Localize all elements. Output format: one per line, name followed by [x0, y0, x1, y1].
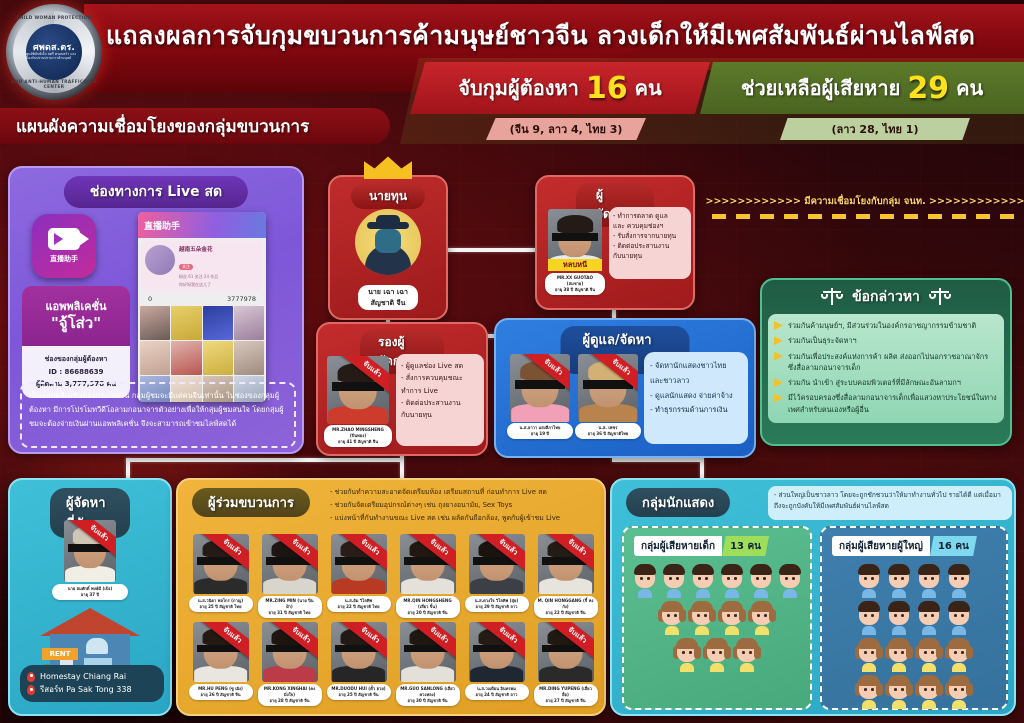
map-pin-icon	[27, 685, 35, 695]
recruiter-duty: - ทำธุรกรรมด้านการเงิน	[650, 403, 742, 418]
page-title: แถลงผลการจับกุมขบวนการค้ามนุษย์ชาวจีน ลว…	[106, 16, 1012, 56]
accomplice-cell: จับแล้วน.ส.อัม วิไลทิพอายุ 22 ปี สัญชาติ…	[326, 534, 391, 618]
accomplice-caption: น.ส.อัม วิไลทิพอายุ 22 ปี สัญชาติ ไทย	[327, 596, 391, 612]
girl-avatar-icon	[856, 675, 882, 709]
girl-avatar-icon	[886, 675, 912, 709]
logo-core: ศพดส.ตร. ศูนย์พิทักษ์เด็ก สตรี ครอบครัว …	[26, 24, 82, 80]
accomplice-caption-line1: MR.DUODU HUI (ตั้ว ฮวย)	[331, 686, 387, 692]
girl-avatar-icon	[674, 638, 700, 672]
stat-rescued-value: 29	[907, 71, 949, 106]
accomplice-photo: จับแล้ว	[193, 622, 249, 682]
accomplice-caption-line1: MR.ZING MIN (นาย ปิ่น ฝ้า)	[262, 598, 318, 610]
child-victims-count: 13 คน	[722, 536, 769, 556]
charge-item: ร่วมกันค้ามนุษย์ฯ, มีส่วนร่วมในองค์กรอาช…	[774, 320, 998, 331]
accomplice-photo: จับแล้ว	[262, 534, 318, 594]
phone-thumb	[140, 341, 170, 375]
accomplice-caption-line1: MR.KONG XINGHAI (คง มิ่งใจ)	[262, 686, 318, 698]
boy-avatar-icon	[946, 564, 972, 598]
deputy-duty: - ผู้ดูแลช่อง Live สด	[401, 360, 479, 372]
accomplice-photo-body	[194, 578, 248, 594]
accomplice-caption: MR.ZING MIN (นาย ปิ่น ฝ้า)อายุ 31 ปี สัญ…	[258, 596, 322, 618]
phone-thumb	[140, 306, 170, 340]
accomplice-photo-body	[470, 666, 524, 682]
arrow-icon	[774, 352, 783, 361]
boy-avatar-icon	[856, 564, 882, 598]
accomplice-caption: MR.DING YUPENG (เสี่ยว ยื่อ)อายุ 27 ปี ส…	[534, 684, 598, 706]
manager-caption: MR.XX GUOTAO (สมชาย) อายุ 38 ปี สัญชาติ …	[545, 273, 605, 295]
rent-sign: RENT	[42, 648, 78, 660]
phone-left-number: 0	[148, 295, 152, 303]
phone-avatar	[145, 245, 175, 275]
logo-sub: ศูนย์พิทักษ์เด็ก สตรี ครอบครัว และป้องกั…	[26, 53, 82, 60]
stat-arrested: จับกุมผู้ต้องหา 16 คน	[410, 62, 710, 114]
accomplice-cell: จับแล้วน.ส.วนิดา พลไกร (กาญ)อายุ 25 ปี ส…	[188, 534, 253, 618]
address-text: Homestay Chiang Rai	[40, 670, 126, 684]
charge-text: ร่วมกันเป็นธุระจัดหาฯ	[788, 335, 857, 346]
recruiter-caption-line2: อายุ 36 ปี สัญชาติไทย	[579, 431, 637, 437]
accomplice-caption: น.ส.วงเดือน อินทรคมอายุ 24 ปี สัญชาติ ลา…	[465, 684, 529, 700]
phone-profile-card: 越南五朵金花 关注 粉丝 61 关注 24 作品 你好呀我在这儿了	[141, 241, 263, 291]
phone-thumb	[234, 306, 264, 340]
recruiter-caption: น.ส. เพชร อายุ 36 ปี สัญชาติไทย	[575, 423, 641, 439]
charge-text: ร่วมกันเพื่อประสงค์แห่งการค้า ผลิต ส่งออ…	[788, 351, 998, 374]
manager-status-badge: หลบหนี	[548, 259, 602, 271]
manager-photo-hair	[557, 215, 593, 232]
stats-group: จับกุมผู้ต้องหา 16 คน ช่วยเหลือผู้เสียหา…	[400, 62, 1024, 146]
phone-counters: 0 3777978	[138, 294, 266, 304]
child-victims-row	[632, 601, 802, 635]
accomplice-caption: MR.KONG XINGHAI (คง มิ่งใจ)อายุ 28 ปี สั…	[258, 684, 322, 706]
phone-card-title: 越南五朵金花	[179, 245, 259, 253]
victims-card: กลุ่มนักแสดง - ส่วนใหญ่เป็นชาวลาว โดยจะถ…	[610, 478, 1016, 716]
arrow-icon	[774, 321, 783, 330]
accomplice-cell: จับแล้วMR.ZING MIN (นาย ปิ่น ฝ้า)อายุ 31…	[257, 534, 322, 618]
boy-avatar-icon	[690, 564, 715, 598]
charge-text: ร่วมกันค้ามนุษย์ฯ, มีส่วนร่วมในองค์กรอาช…	[788, 320, 976, 331]
accomplice-cell: จับแล้วน.ส.วงเดือน อินทรคมอายุ 24 ปี สัญ…	[464, 622, 529, 706]
girl-avatar-icon	[856, 638, 882, 672]
accomplice-caption-line2: อายุ 22 ปี สัญชาติ ไทย	[331, 604, 387, 610]
deputy-duty: - ติดต่อประสานงาน	[401, 397, 479, 409]
accomplice-photo-body	[401, 578, 455, 594]
charges-title: ข้อกล่าวหา	[852, 286, 920, 308]
manager-card: ผู้จัดการ หลบหนี MR.XX GUOTAO (สมชาย) อา…	[535, 175, 695, 310]
app-label-line1: แอพพลิเคชั่น	[45, 300, 106, 314]
phone-follow-badge: 关注	[179, 264, 193, 270]
accomplice-caption-line2: อายุ 24 ปี สัญชาติ ลาว	[469, 692, 525, 698]
stat-arrested-note: (จีน 9, ลาว 4, ไทย 3)	[486, 118, 646, 140]
victims-note: - ส่วนใหญ่เป็นชาวลาว โดยจะถูกชักชวนว่าให…	[768, 486, 1012, 520]
recruiter-duty: - ดูแลนักแสดง จ่ายค่าจ้าง	[650, 389, 742, 404]
app-name-box: แอพพลิเคชั่น "จู้โส่ว"	[22, 286, 130, 346]
child-victims-group: กลุ่มผู้เสียหายเด็ก 13 คน	[622, 526, 812, 710]
boss-avatar-hat-top	[376, 215, 400, 225]
live-app-icon: 直播助手	[32, 214, 96, 278]
phone-app-header: 直播助手	[138, 212, 266, 238]
deputy-caption-line2: อายุ 41 ปี สัญชาติ จีน	[328, 439, 388, 445]
accomplice-caption-line2: อายุ 30 ปี สัญชาติ จีน	[400, 698, 456, 704]
accomplice-photo-body	[263, 666, 317, 682]
stat-arrested-unit: คน	[635, 72, 662, 104]
accomplice-photo: จับแล้ว	[400, 622, 456, 682]
accomplice-caption-line2: อายุ 28 ปี สัญชาติ จีน	[262, 698, 318, 704]
adult-victims-row	[830, 601, 998, 635]
accomplice-photo: จับแล้ว	[538, 534, 594, 594]
logo-text-bottom: AND ANTI-HUMAN TRAFFICKING CENTER	[6, 79, 102, 89]
phone-thumb	[203, 341, 233, 375]
connector-bottom	[126, 458, 402, 462]
channel-label: ช่องของกลุ่มผู้ต้องหา	[45, 353, 108, 366]
app-label-line2: "จู้โส่ว"	[51, 314, 101, 333]
deputy-duties: - ผู้ดูแลช่อง Live สด - สั่งการควบคุมชณะ…	[396, 354, 484, 446]
child-victims-row	[632, 564, 802, 598]
recruiter-caption: น.ส.ยาวา แสงสีภาไทย อายุ 19 ปี	[507, 423, 573, 439]
boy-avatar-icon	[886, 601, 912, 635]
live-panel-note: เป็นแอพพลิเคชั่นของประเทศจีน กลุ่มผู้ชมจ…	[20, 382, 296, 448]
charges-header: ข้อกล่าวหา	[762, 280, 1010, 314]
recruiter-card: ผู้ดูแล/จัดหานักแสดง จับแล้ว น.ส.ยาวา แส…	[494, 318, 756, 458]
deputy-manager-card: รองผู้จัดการ จับแล้ว MR.ZHAO MINGSHENG (…	[316, 322, 488, 456]
girl-avatar-icon	[659, 601, 685, 635]
phone-card-line2: 你好呀我在这儿了	[179, 282, 259, 288]
accomplice-cell: จับแล้วMR.DUODU HUI (ตั้ว ฮวย)อายุ 25 ปี…	[326, 622, 391, 706]
girl-avatar-icon	[719, 601, 745, 635]
deputy-duty: กับนายทุน	[401, 409, 479, 421]
girl-avatar-icon	[946, 638, 972, 672]
charge-item: ร่วมกันเป็นธุระจัดหาฯ	[774, 335, 998, 346]
live-panel-title: ช่องทางการ Live สด	[64, 176, 248, 208]
adult-victims-group: กลุ่มผู้เสียหายผู้ใหญ่ 16 คน	[820, 526, 1008, 710]
boss-title: นายทุน	[351, 184, 425, 209]
scales-of-justice-icon	[930, 288, 950, 306]
accomplice-photo-body	[332, 666, 386, 682]
accomplice-photo-body	[470, 578, 524, 594]
stat-rescued-label: ช่วยเหลือผู้เสียหาย	[741, 72, 900, 104]
recruiter-photo: จับแล้ว	[578, 354, 638, 422]
accomplice-caption-line2: อายุ 25 ปี สัญชาติ จีน	[331, 692, 387, 698]
page-subtitle: แผนผังความเชื่อมโยงของกลุ่มขบวนการ	[0, 108, 390, 144]
arrow-icon	[774, 378, 783, 387]
boss-caption: นาย เฉา เฉา สัญชาติ จีน	[358, 285, 418, 310]
accomplice-photo: จับแล้ว	[538, 622, 594, 682]
charge-text: มีไว้ครอบครองซึ่งสื่อลามกอนาจารเด็กเพื่อ…	[788, 392, 998, 415]
accomplice-caption-line2: อายุ 22 ปี สัญชาติ จีน	[538, 610, 594, 616]
stat-rescued: ช่วยเหลือผู้เสียหาย 29 คน	[700, 62, 1024, 114]
boss-nationality: สัญชาติ จีน	[368, 298, 408, 309]
accomplice-caption-line2: อายุ 26 ปี สัญชาติ จีน	[193, 692, 249, 698]
accomplice-caption: น.ส.ดวงใจ วิไลทิพ (สุ่ย)อายุ 29 ปี สัญชา…	[465, 596, 529, 612]
victims-title: กลุ่มนักแสดง	[626, 488, 730, 517]
girl-avatar-icon	[704, 638, 730, 672]
housing-caption-line2: อายุ 37 ปี	[56, 592, 124, 598]
girl-avatar-icon	[689, 601, 715, 635]
accomplice-caption-line1: MR.QIN HONGSHENG (เสี่ยว จิ้น)	[400, 598, 456, 610]
accomplice-caption: MR.GUO SANLONG (เสี่ยว ควงหลง)อายุ 30 ปี…	[396, 684, 460, 706]
phone-card-line1: 粉丝 61 关注 24 作品	[179, 274, 259, 280]
live-channel-panel: ช่องทางการ Live สด 直播助手 แอพพลิเคชั่น "จู…	[8, 166, 304, 454]
dashed-divider	[712, 214, 1018, 219]
address-text: รีสอร์ท Pa Sak Tong 338	[40, 683, 132, 697]
accomplice-caption-line2: อายุ 31 ปี สัญชาติ ไทย	[262, 610, 318, 616]
accomplice-caption: M. QIN HONGGANG (จี้ หงกัง)อายุ 22 ปี สั…	[534, 596, 598, 618]
recruiter-caption-line2: อายุ 19 ปี	[511, 431, 569, 437]
adult-victims-row	[830, 675, 998, 709]
map-pin-icon	[27, 672, 35, 682]
child-victims-icons	[632, 564, 802, 672]
charge-item: ร่วมกัน นำเข้า สู่ระบบคอมพิวเตอร์ที่มีลั…	[774, 377, 998, 388]
accomplice-photo: จับแล้ว	[469, 622, 525, 682]
recruiter-photo: จับแล้ว	[510, 354, 570, 422]
arrow-icon	[774, 393, 783, 402]
manager-duty: - รับสั่งการจากนายทุน	[613, 232, 687, 242]
housing-caption: นาย สมศักดิ์ พงษ์มี (เป้ง) อายุ 37 ปี	[52, 584, 128, 600]
deputy-caption: MR.ZHAO MINGSHENG (ปิ่นทอง) อายุ 41 ปี ส…	[324, 425, 392, 447]
accomplice-cell: จับแล้วM. QIN HONGGANG (จี้ หงกัง)อายุ 2…	[533, 534, 598, 618]
deputy-duty: ทำการ Live	[401, 385, 479, 397]
boss-name: นาย เฉา เฉา	[368, 287, 408, 298]
infographic-root: แถลงผลการจับกุมขบวนการค้ามนุษย์ชาวจีน ลว…	[0, 0, 1024, 723]
address-row: Homestay Chiang Rai	[27, 670, 157, 684]
recruiter-duties: - จัดหานักแสดงชาวไทย และชาวลาว - ดูแลนัก…	[644, 352, 748, 444]
accomplice-caption-line2: อายุ 20 ปี สัญชาติ จีน	[400, 610, 456, 616]
boss-avatar-icon	[355, 209, 421, 275]
charge-text: ร่วมกัน นำเข้า สู่ระบบคอมพิวเตอร์ที่มีลั…	[788, 377, 961, 388]
accomplice-caption: MR.DUODU HUI (ตั้ว ฮวย)อายุ 25 ปี สัญชาต…	[327, 684, 391, 700]
deputy-photo-redaction-bar	[332, 382, 384, 391]
phone-thumb	[234, 341, 264, 375]
logo-text-top: CHILD WOMAN PROTECTION	[6, 15, 102, 20]
girl-avatar-icon	[749, 601, 775, 635]
adult-victims-icons	[830, 564, 998, 709]
boy-avatar-icon	[632, 564, 657, 598]
accomplice-caption: MR.HU PENG (ซู เผิง)อายุ 26 ปี สัญชาติ จ…	[189, 684, 253, 700]
manager-duty: กับนายทุน	[613, 252, 687, 262]
accomplice-photo-body	[539, 578, 593, 594]
housing-addresses: Homestay Chiang Rai รีสอร์ท Pa Sak Tong …	[20, 665, 164, 702]
accomplice-caption-line1: MR.GUO SANLONG (เสี่ยว ควงหลง)	[400, 686, 456, 698]
manager-caption-line2: อายุ 38 ปี สัญชาติ จีน	[549, 287, 601, 293]
child-victims-header: กลุ่มผู้เสียหายเด็ก 13 คน	[634, 536, 769, 556]
adult-victims-row	[830, 638, 998, 672]
stat-arrested-label: จับกุมผู้ต้องหา	[458, 72, 579, 104]
boy-avatar-icon	[946, 601, 972, 635]
housing-photo: จับแล้ว	[64, 520, 116, 582]
accomplices-title: ผู้ร่วมขบวนการ	[192, 488, 310, 517]
accomplices-duties: - ช่วยกันทำความสะอาดจัดเตรียมห้อง เตรียม…	[330, 486, 600, 525]
accomplice-photo-body	[263, 578, 317, 594]
phone-screenshot: 直播助手 越南五朵金花 关注 粉丝 61 关注 24 作品 你好呀我在这儿了 0…	[138, 212, 266, 402]
boy-avatar-icon	[916, 601, 942, 635]
phone-profile-meta: 越南五朵金花 关注 粉丝 61 关注 24 作品 你好呀我在这儿了	[179, 245, 259, 287]
accomplice-duty: - ช่วยกันจัดเตรียมอุปกรณ์ต่างๆ เช่น ถุงย…	[330, 499, 600, 512]
stat-rescued-unit: คน	[956, 72, 983, 104]
boy-avatar-icon	[856, 601, 882, 635]
accomplice-photo-body	[194, 666, 248, 682]
boss-card: นายทุน นาย เฉา เฉา สัญชาติ จีน	[328, 175, 448, 320]
accomplice-cell: จับแล้วน.ส.ดวงใจ วิไลทิพ (สุ่ย)อายุ 29 ป…	[464, 534, 529, 618]
accomplice-photo-body	[401, 666, 455, 682]
accomplice-caption-line2: อายุ 25 ปี สัญชาติ ไทย	[193, 604, 249, 610]
accomplice-photo: จับแล้ว	[469, 534, 525, 594]
accomplice-photo: จับแล้ว	[400, 534, 456, 594]
child-victims-row	[632, 638, 802, 672]
manager-duty: และ ควบคุมช่องฯ	[613, 222, 687, 232]
charges-list: ร่วมกันค้ามนุษย์ฯ, มีส่วนร่วมในองค์กรอาช…	[768, 314, 1004, 423]
boy-avatar-icon	[661, 564, 686, 598]
accomplice-cell: จับแล้วMR.KONG XINGHAI (คง มิ่งใจ)อายุ 2…	[257, 622, 322, 706]
phone-right-number: 3777978	[227, 295, 256, 303]
phone-thumb	[171, 341, 201, 375]
boy-avatar-icon	[886, 564, 912, 598]
accomplice-duty: - แบ่งหน้าที่กันทำงานขณะ Live สด เช่น ผล…	[330, 512, 600, 525]
manager-caption-line1: MR.XX GUOTAO (สมชาย)	[549, 275, 601, 287]
manager-duty: - ติดต่อประสานงาน	[613, 242, 687, 252]
channel-id: ID : 86688639	[48, 366, 103, 379]
accomplice-duty: - ช่วยกันทำความสะอาดจัดเตรียมห้อง เตรียม…	[330, 486, 600, 499]
girl-avatar-icon	[886, 638, 912, 672]
accomplice-caption-line1: M. QIN HONGGANG (จี้ หงกัง)	[538, 598, 594, 610]
girl-avatar-icon	[916, 638, 942, 672]
charge-item: มีไว้ครอบครองซึ่งสื่อลามกอนาจารเด็กเพื่อ…	[774, 392, 998, 415]
deputy-duty: - สั่งการควบคุมชณะ	[401, 372, 479, 384]
accomplice-photo: จับแล้ว	[331, 622, 387, 682]
manager-duties: - ทำการตลาด ดูแล และ ควบคุมช่องฯ - รับสั…	[609, 207, 691, 279]
accomplice-photo-body	[539, 666, 593, 682]
girl-avatar-icon	[946, 675, 972, 709]
child-victims-label: กลุ่มผู้เสียหายเด็ก	[634, 536, 722, 556]
accomplice-caption-line2: อายุ 29 ปี สัญชาติ ลาว	[469, 604, 525, 610]
manager-duty: - ทำการตลาด ดูแล	[613, 212, 687, 222]
house-roof	[40, 608, 140, 636]
manager-photo-redaction-bar	[552, 233, 597, 241]
live-app-icon-text: 直播助手	[50, 254, 78, 264]
accomplice-photo: จับแล้ว	[331, 534, 387, 594]
accomplice-photo: จับแล้ว	[262, 622, 318, 682]
accomplice-photo: จับแล้ว	[193, 534, 249, 594]
stat-rescued-note: (ลาว 28, ไทย 1)	[780, 118, 970, 140]
boy-avatar-icon	[748, 564, 773, 598]
link-banner: >>>>>>>>>>>> มีความเชื่อมโยงกับกลุ่ม จนท…	[712, 192, 1018, 210]
accomplice-photo-body	[332, 578, 386, 594]
boy-avatar-icon	[719, 564, 744, 598]
accomplice-caption: น.ส.วนิดา พลไกร (กาญ)อายุ 25 ปี สัญชาติ …	[189, 596, 253, 612]
accomplice-caption-line1: MR.DING YUPENG (เสี่ยว ยื่อ)	[538, 686, 594, 698]
boy-avatar-icon	[777, 564, 802, 598]
deputy-caption-line1: MR.ZHAO MINGSHENG (ปิ่นทอง)	[328, 427, 388, 439]
boy-avatar-icon	[916, 564, 942, 598]
phone-thumb	[203, 306, 233, 340]
accomplices-card: ผู้ร่วมขบวนการ - ช่วยกันทำความสะอาดจัดเต…	[176, 478, 606, 716]
recruiter-duty: และชาวลาว	[650, 374, 742, 389]
scales-of-justice-icon	[822, 288, 842, 306]
accomplice-caption-line1: MR.HU PENG (ซู เผิง)	[193, 686, 249, 692]
house-window-upper	[86, 638, 108, 654]
recruiter-duty: - จัดหานักแสดงชาวไทย	[650, 359, 742, 374]
video-camera-icon	[48, 228, 80, 250]
girl-avatar-icon	[916, 675, 942, 709]
accomplice-cell: จับแล้วMR.DING YUPENG (เสี่ยว ยื่อ)อายุ …	[533, 622, 598, 706]
adult-victims-count: 16 คน	[930, 536, 977, 556]
phone-thumb	[171, 306, 201, 340]
housing-provider-card: ผู้จัดหาที่พัก จับแล้ว นาย สมศักดิ์ พงษ์…	[8, 478, 172, 716]
address-row: รีสอร์ท Pa Sak Tong 338	[27, 683, 157, 697]
accomplice-caption-line2: อายุ 27 ปี สัญชาติ จีน	[538, 698, 594, 704]
arrow-icon	[774, 336, 783, 345]
stat-arrested-value: 16	[586, 71, 628, 106]
adult-victims-label: กลุ่มผู้เสียหายผู้ใหญ่	[832, 536, 930, 556]
accomplice-cell: จับแล้วMR.GUO SANLONG (เสี่ยว ควงหลง)อาย…	[395, 622, 460, 706]
police-logo: ศพดส.ตร. ศูนย์พิทักษ์เด็ก สตรี ครอบครัว …	[6, 4, 102, 100]
accomplices-photo-grid: จับแล้วน.ส.วนิดา พลไกร (กาญ)อายุ 25 ปี ส…	[188, 534, 598, 706]
accomplice-cell: จับแล้วMR.HU PENG (ซู เผิง)อายุ 26 ปี สั…	[188, 622, 253, 706]
header: แถลงผลการจับกุมขบวนการค้ามนุษย์ชาวจีน ลว…	[0, 0, 1024, 150]
girl-avatar-icon	[734, 638, 760, 672]
charge-item: ร่วมกันเพื่อประสงค์แห่งการค้า ผลิต ส่งออ…	[774, 351, 998, 374]
charges-card: ข้อกล่าวหา ร่วมกันค้ามนุษย์ฯ, มีส่วนร่วม…	[760, 278, 1012, 446]
boss-avatar-head	[375, 229, 401, 253]
deputy-photo: จับแล้ว	[327, 356, 389, 424]
adult-victims-header: กลุ่มผู้เสียหายผู้ใหญ่ 16 คน	[832, 536, 977, 556]
adult-victims-row	[830, 564, 998, 598]
accomplice-caption: MR.QIN HONGSHENG (เสี่ยว จิ้น)อายุ 20 ปี…	[396, 596, 460, 618]
connector-recruit-down	[612, 458, 702, 462]
accomplice-cell: จับแล้วMR.QIN HONGSHENG (เสี่ยว จิ้น)อาย…	[395, 534, 460, 618]
